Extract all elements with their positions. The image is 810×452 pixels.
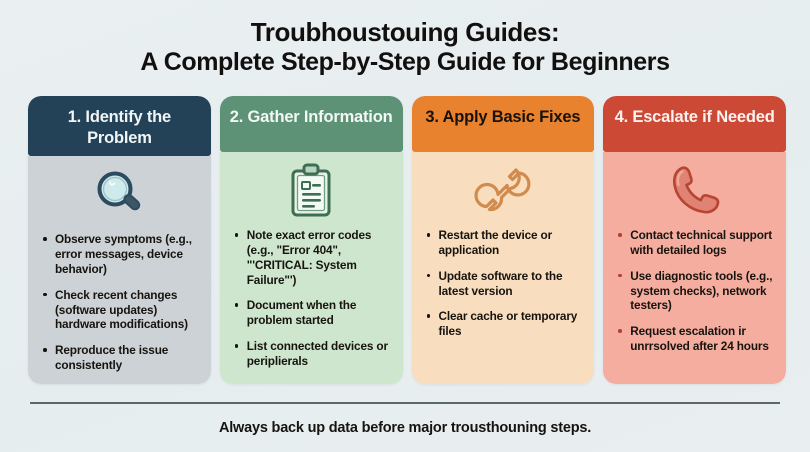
step-bullet-list: Restart the device or application Update… xyxy=(412,228,595,339)
step-card-body: Note exact error codes (e.g., "Error 404… xyxy=(220,152,403,384)
step-card-escalate-if-needed[interactable]: 4. Escalate if Needed Contact technical … xyxy=(603,96,786,384)
list-item: Document when the problem started xyxy=(234,298,393,328)
clipboard-icon xyxy=(220,152,403,228)
step-card-header: 3. Apply Basic Fixes xyxy=(412,96,595,152)
list-item: Update software to the latest version xyxy=(426,269,585,299)
step-card-title: 4. Escalate if Needed xyxy=(611,107,778,128)
list-item: Request escalation ir unrrsolved after 2… xyxy=(617,324,776,354)
step-card-body: Contact technical support with detailed … xyxy=(603,152,786,384)
list-item: Use diagnostic tools (e.g., system check… xyxy=(617,269,776,314)
step-bullet-list: Note exact error codes (e.g., "Error 404… xyxy=(220,228,403,369)
list-item: Restart the device or application xyxy=(426,228,585,258)
step-card-title: 3. Apply Basic Fixes xyxy=(420,107,587,128)
list-item: Check recent changes (software updates) … xyxy=(42,288,201,333)
step-bullet-list: Observe symptoms (e.g., error messages, … xyxy=(28,232,211,373)
step-card-identify-the-problem[interactable]: 1. Identify the Problem Observe symptoms… xyxy=(28,96,211,384)
step-bullet-list: Contact technical support with detailed … xyxy=(603,228,786,354)
step-card-body: Observe symptoms (e.g., error messages, … xyxy=(28,156,211,384)
wrench-icon xyxy=(412,152,595,228)
phone-handset-icon xyxy=(603,152,786,228)
footer-note: Always back up data before major trousth… xyxy=(30,420,780,436)
list-item: List connected devices or periplierals xyxy=(234,339,393,369)
step-card-title: 1. Identify the Problem xyxy=(36,107,203,148)
step-card-header: 4. Escalate if Needed xyxy=(603,96,786,152)
step-card-body: Restart the device or application Update… xyxy=(412,152,595,384)
title-line-primary: Troubhoustouing Guides: xyxy=(0,17,810,48)
list-item: Clear cache or temporary files xyxy=(426,309,585,339)
step-card-apply-basic-fixes[interactable]: 3. Apply Basic Fixes Restart the device … xyxy=(412,96,595,384)
footer: Always back up data before major trousth… xyxy=(30,402,780,436)
list-item: Reproduce the issue consistently xyxy=(42,343,201,373)
footer-divider xyxy=(30,402,780,404)
list-item: Observe symptoms (e.g., error messages, … xyxy=(42,232,201,277)
magnifying-glass-icon xyxy=(28,156,211,232)
list-item: Contact technical support with detailed … xyxy=(617,228,776,258)
list-item: Note exact error codes (e.g., "Error 404… xyxy=(234,228,393,287)
step-card-header: 2. Gather Information xyxy=(220,96,403,152)
step-card-title: 2. Gather Information xyxy=(228,107,395,128)
page-title: Troubhoustouing Guides: A Complete Step-… xyxy=(0,0,810,77)
infographic-page: Troubhoustouing Guides: A Complete Step-… xyxy=(0,0,810,452)
title-line-secondary: A Complete Step-by-Step Guide for Beginn… xyxy=(0,48,810,78)
step-card-header: 1. Identify the Problem xyxy=(28,96,211,156)
steps-card-row: 1. Identify the Problem Observe symptoms… xyxy=(28,96,786,384)
step-card-gather-information[interactable]: 2. Gather Information N xyxy=(220,96,403,384)
